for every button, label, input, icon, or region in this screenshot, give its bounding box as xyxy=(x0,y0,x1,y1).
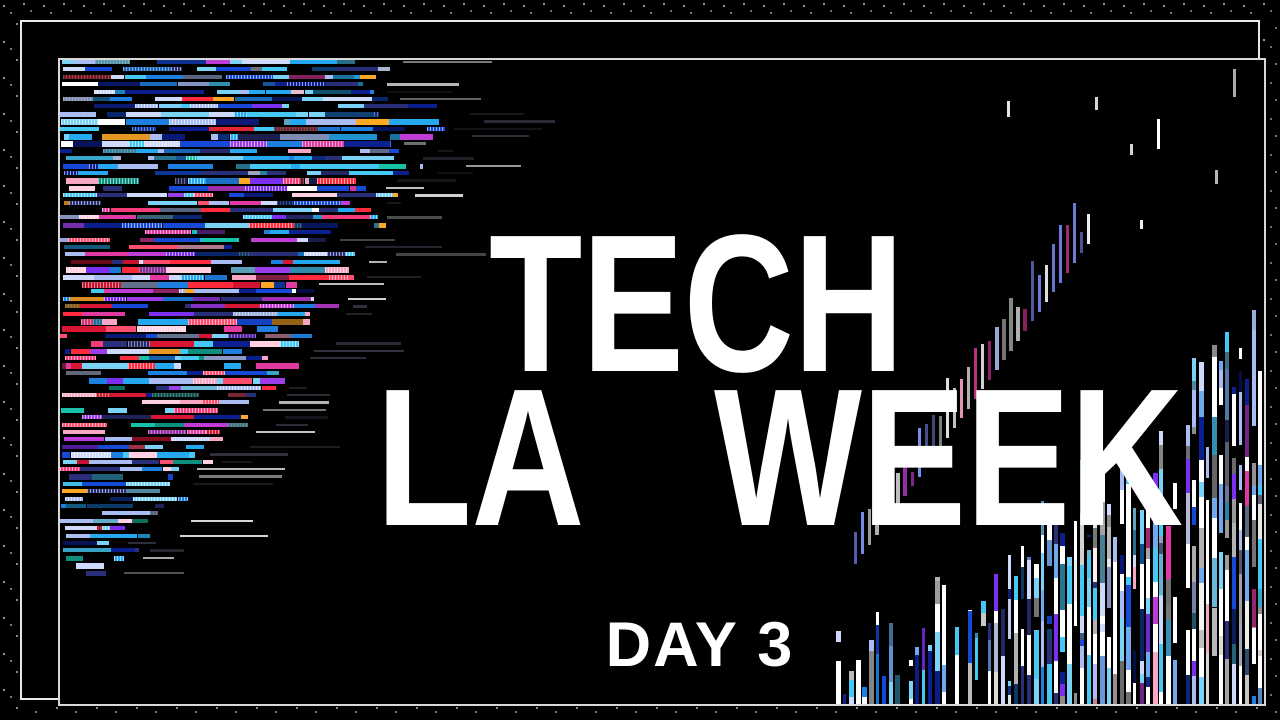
horizontal-scanline-glitch xyxy=(60,60,700,580)
outer-frame-border: TECH LA WEEK DAY 3 xyxy=(20,20,1260,700)
poster-canvas: TECH LA WEEK DAY 3 xyxy=(0,0,1280,720)
inner-frame-border: TECH LA WEEK DAY 3 xyxy=(58,58,1266,706)
poster-stage: TECH LA WEEK DAY 3 xyxy=(60,60,1264,704)
vertical-bar-glitch xyxy=(834,64,1264,704)
